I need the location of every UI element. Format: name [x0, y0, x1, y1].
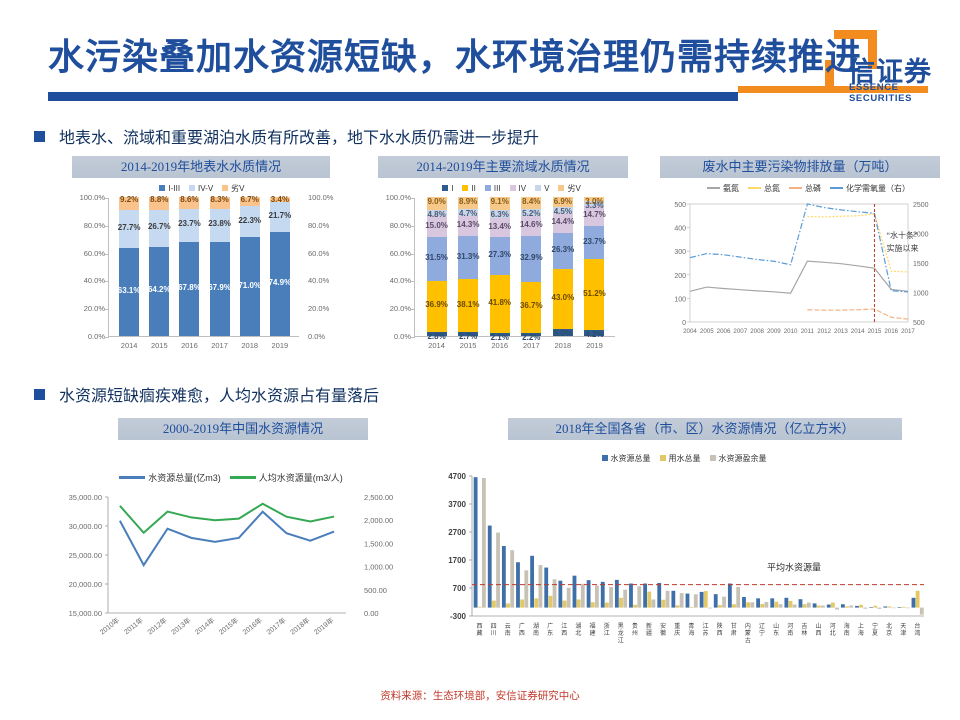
- svg-text:南: 南: [787, 629, 793, 637]
- bar-value-label: 74.9%: [269, 278, 292, 287]
- bar-segment: 14.6%: [521, 216, 541, 236]
- bar-segment: 8.3%: [210, 197, 230, 209]
- svg-text:广: 广: [519, 622, 525, 630]
- chart-basin-water-quality: IIIIIIIVV劣V 0.0%20.0%40.0%60.0%80.0%100.…: [372, 182, 640, 352]
- bar-value-label: 13.4%: [488, 222, 511, 231]
- svg-text:2018年: 2018年: [288, 615, 311, 636]
- bar-segment: 41.8%: [490, 275, 510, 333]
- legend-label: III: [494, 184, 501, 193]
- bar-value-label: 8.9%: [459, 197, 477, 206]
- axis-tick: [411, 198, 415, 199]
- svg-text:2,500.00: 2,500.00: [364, 493, 393, 502]
- svg-text:4700: 4700: [448, 472, 466, 481]
- svg-text:20,000.00: 20,000.00: [69, 580, 102, 589]
- x-axis-tick-label: 2017: [204, 341, 236, 350]
- svg-text:2013: 2013: [834, 328, 848, 335]
- bar-segment: 21.7%: [270, 202, 290, 232]
- bar-segment: 2.2%: [521, 333, 541, 336]
- svg-text:吉: 吉: [801, 623, 807, 630]
- chart3-svg: 0100200300400500500100015002000250020042…: [664, 196, 948, 354]
- bar-value-label: 71.0%: [238, 281, 261, 290]
- legend-item: 化学需氧量（右）: [830, 183, 910, 194]
- svg-text:庆: 庆: [674, 629, 680, 637]
- svg-text:北: 北: [886, 622, 892, 630]
- svg-text:陕: 陕: [717, 622, 723, 630]
- svg-text:1500: 1500: [913, 261, 929, 268]
- svg-text:2010年: 2010年: [98, 615, 121, 636]
- legend-label: 水资源盈余量: [719, 453, 767, 464]
- stacked-bar: 71.0%22.3%6.7%: [240, 197, 260, 336]
- svg-text:2009: 2009: [767, 328, 781, 335]
- legend-label: I-III: [168, 184, 180, 193]
- svg-text:川: 川: [491, 630, 497, 637]
- bar-value-label: 36.9%: [425, 300, 448, 309]
- svg-text:1,500.00: 1,500.00: [364, 539, 393, 548]
- svg-text:青: 青: [688, 622, 694, 630]
- legend-swatch-icon: [189, 185, 195, 191]
- svg-text:2017: 2017: [901, 328, 915, 335]
- svg-text:河: 河: [830, 622, 836, 630]
- bar-value-label: 14.3%: [457, 220, 480, 229]
- header-rule-blue: [48, 92, 738, 101]
- legend-label: 氨氮: [723, 183, 739, 194]
- svg-text:州: 州: [632, 630, 638, 637]
- axis-tick: [105, 309, 109, 310]
- bar-value-label: 27.3%: [488, 250, 511, 259]
- bar-segment: 4.7%: [458, 209, 478, 216]
- axis-tick: [411, 309, 415, 310]
- svg-text:甘: 甘: [731, 622, 737, 630]
- stacked-bar: 64.2%26.7%8.8%: [149, 197, 169, 336]
- legend-label: V: [544, 184, 549, 193]
- chart-pollutant-discharge: 氨氮总氮总磷化学需氧量（右） 0100200300400500500100015…: [664, 182, 948, 357]
- bar-segment: 64.2%: [149, 247, 169, 336]
- svg-text:西: 西: [816, 630, 822, 637]
- x-axis-tick-label: 2015: [143, 341, 175, 350]
- bar-segment: 8.6%: [179, 197, 199, 209]
- bar-segment: 9.0%: [427, 197, 447, 210]
- svg-text:疆: 疆: [646, 630, 652, 637]
- bullet-point-1: 地表水、流域和重要湖泊水质有所改善，地下水水质仍需进一步提升: [34, 124, 539, 148]
- bar-segment: 8.8%: [149, 197, 169, 209]
- legend-item: 氨氮: [707, 183, 739, 194]
- svg-text:2016年: 2016年: [241, 615, 264, 636]
- svg-text:0.00: 0.00: [364, 609, 379, 618]
- legend-item: IV: [510, 184, 527, 193]
- svg-text:山: 山: [773, 622, 779, 630]
- legend-swatch-icon: [748, 187, 761, 189]
- y2-axis-tick-label: 40.0%: [308, 276, 348, 285]
- bar-segment: 32.9%: [521, 236, 541, 282]
- bar-value-label: 2.7%: [459, 332, 477, 341]
- legend-swatch-icon: [442, 185, 448, 191]
- svg-text:西: 西: [717, 630, 723, 637]
- y-axis-tick-label: 60.0%: [373, 249, 411, 258]
- bar-value-label: 31.5%: [425, 253, 448, 262]
- svg-text:宁: 宁: [872, 622, 878, 630]
- bar-segment: 15.0%: [427, 216, 447, 237]
- bar-value-label: 51.2%: [583, 289, 606, 298]
- svg-text:500: 500: [674, 202, 686, 209]
- svg-text:河: 河: [787, 622, 793, 630]
- svg-text:-300: -300: [450, 612, 467, 621]
- svg-text:西: 西: [561, 630, 567, 637]
- bar-value-label: 4.8%: [427, 210, 445, 219]
- legend-item: 劣V: [222, 183, 244, 194]
- svg-text:南: 南: [505, 629, 511, 637]
- svg-text:1000: 1000: [913, 291, 929, 298]
- svg-text:西: 西: [477, 623, 483, 630]
- svg-text:2017年: 2017年: [264, 615, 287, 636]
- legend-swatch-icon: [159, 185, 165, 191]
- bar-value-label: 4.7%: [459, 209, 477, 218]
- legend-item: 总磷: [789, 183, 821, 194]
- svg-text:江: 江: [618, 637, 624, 644]
- bar-segment: 31.5%: [427, 237, 447, 281]
- svg-text:古: 古: [745, 636, 751, 644]
- legend-item: 用水总量: [660, 453, 701, 464]
- legend-item: 水资源盈余量: [710, 453, 767, 464]
- bar-segment: 4.8%: [427, 210, 447, 217]
- legend-item: I-III: [159, 184, 180, 193]
- bullet-square-icon: [34, 131, 45, 142]
- legend-item: III: [485, 184, 501, 193]
- svg-text:肃: 肃: [731, 629, 737, 637]
- bar-value-label: 3.0%: [585, 197, 603, 206]
- bar-segment: 8.4%: [521, 197, 541, 209]
- bar-segment: 23.8%: [210, 209, 230, 242]
- svg-text:东: 东: [547, 629, 553, 637]
- legend-swatch-icon: [462, 185, 468, 191]
- y-axis-tick-label: 100.0%: [67, 193, 105, 202]
- bar-segment: 9.1%: [490, 197, 510, 210]
- svg-text:海: 海: [844, 622, 850, 630]
- svg-text:江: 江: [604, 630, 610, 637]
- bar-value-label: 23.7%: [178, 219, 201, 228]
- bar-segment: 2.7%: [458, 332, 478, 336]
- chart-title-china-water-resources: 2000-2019年中国水资源情况: [118, 418, 368, 440]
- svg-text:300: 300: [674, 249, 686, 256]
- y-axis-tick-label: 80.0%: [67, 221, 105, 230]
- legend-item: 劣V: [558, 183, 580, 194]
- x-axis-tick-label: 2016: [484, 341, 516, 350]
- y2-axis-tick-label: 0.0%: [308, 332, 348, 341]
- bar-segment: 6.3%: [490, 210, 510, 219]
- svg-text:浙: 浙: [604, 622, 610, 630]
- bar-value-label: 6.9%: [554, 197, 572, 206]
- svg-text:700: 700: [453, 584, 467, 593]
- bar-value-label: 27.7%: [118, 223, 141, 232]
- legend-label: 劣V: [567, 183, 580, 194]
- bullet-text: 地表水、流域和重要湖泊水质有所改善，地下水水质仍需进一步提升: [59, 124, 539, 148]
- chart2-plot-area: 0.0%20.0%40.0%60.0%80.0%100.0%2.8%36.9%3…: [414, 198, 615, 337]
- bar-segment: 26.7%: [149, 210, 169, 247]
- svg-text:2,000.00: 2,000.00: [364, 516, 393, 525]
- legend-item: I: [442, 184, 453, 193]
- svg-text:建: 建: [590, 629, 596, 637]
- bar-value-label: 9.0%: [427, 197, 445, 206]
- legend-label: IV-V: [198, 184, 213, 193]
- bullet-text: 水资源短缺痼疾难愈，人均水资源占有量落后: [59, 382, 379, 406]
- bar-value-label: 6.7%: [241, 195, 259, 204]
- bar-segment: 67.8%: [179, 242, 199, 336]
- legend-label: 总磷: [805, 183, 821, 194]
- legend-item: 水资源总量(亿m3): [119, 471, 221, 484]
- legend-swatch-icon: [558, 185, 564, 191]
- bar-segment: 31.3%: [458, 236, 478, 280]
- x-axis-tick-label: 2019: [264, 341, 296, 350]
- svg-text:35,000.00: 35,000.00: [69, 493, 102, 502]
- svg-text:龙: 龙: [618, 629, 624, 637]
- axis-tick: [411, 254, 415, 255]
- legend-swatch-icon: [119, 476, 145, 479]
- stacked-bar: 5.0%43.0%26.3%14.4%4.5%6.9%: [553, 197, 573, 336]
- svg-text:湾: 湾: [914, 629, 920, 637]
- svg-text:东: 东: [773, 629, 779, 637]
- svg-text:内: 内: [745, 622, 751, 630]
- axis-tick: [411, 226, 415, 227]
- legend-label: 人均水资源量(m3/人): [259, 471, 343, 484]
- legend-item: V: [535, 184, 549, 193]
- legend-swatch-icon: [485, 185, 491, 191]
- bar-value-label: 4.5%: [554, 207, 572, 216]
- chart4-legend: 水资源总量(亿m3)人均水资源量(m3/人): [96, 470, 366, 484]
- legend-swatch-icon: [660, 455, 666, 461]
- y2-axis-tick-label: 60.0%: [308, 249, 348, 258]
- bar-segment: 63.1%: [119, 248, 139, 336]
- chart-title-pollutant-discharge: 废水中主要污染物排放量（万吨）: [660, 156, 940, 178]
- svg-text:0: 0: [682, 320, 686, 327]
- svg-text:江: 江: [703, 623, 709, 630]
- legend-swatch-icon: [222, 185, 228, 191]
- svg-text:徽: 徽: [660, 629, 666, 637]
- chart5-svg: -3007001700270037004700西藏四川云南广西湖南广东江西湖北福…: [424, 466, 944, 661]
- bar-value-label: 8.4%: [522, 197, 540, 206]
- svg-text:蒙: 蒙: [745, 629, 751, 637]
- bar-segment: 3.0%: [584, 197, 604, 201]
- legend-swatch-icon: [830, 187, 843, 189]
- legend-swatch-icon: [510, 185, 516, 191]
- y2-axis-tick-label: 80.0%: [308, 221, 348, 230]
- stacked-bar: 67.8%23.7%8.6%: [179, 197, 199, 336]
- axis-tick: [411, 281, 415, 282]
- y-axis-tick-label: 40.0%: [67, 276, 105, 285]
- legend-swatch-icon: [535, 185, 541, 191]
- bar-segment: 27.7%: [119, 210, 139, 249]
- svg-text:南: 南: [844, 629, 850, 637]
- svg-text:林: 林: [801, 629, 807, 637]
- svg-text:15,000.00: 15,000.00: [69, 609, 102, 618]
- svg-text:山: 山: [816, 622, 822, 630]
- bar-value-label: 14.7%: [583, 210, 606, 219]
- svg-text:2015: 2015: [868, 328, 882, 335]
- bar-segment: 23.7%: [584, 226, 604, 259]
- svg-text:2004: 2004: [683, 328, 697, 335]
- bar-segment: 26.3%: [553, 233, 573, 270]
- bar-segment: 6.9%: [553, 197, 573, 207]
- chart1-legend: I-IIIIV-V劣V: [102, 182, 302, 194]
- svg-text:2010: 2010: [784, 328, 798, 335]
- svg-text:苏: 苏: [703, 629, 709, 637]
- svg-text:2013年: 2013年: [169, 615, 192, 636]
- legend-label: 用水总量: [669, 453, 701, 464]
- bar-value-label: 8.8%: [150, 195, 168, 204]
- stacked-bar: 67.9%23.8%8.3%: [210, 197, 230, 336]
- bar-segment: 22.3%: [240, 206, 260, 237]
- svg-text:福: 福: [590, 622, 596, 630]
- svg-text:500.00: 500.00: [364, 586, 387, 595]
- svg-text:2011年: 2011年: [122, 615, 145, 636]
- chart5-legend: 水资源总量用水总量水资源盈余量: [554, 452, 814, 464]
- svg-text:江: 江: [561, 623, 567, 630]
- x-axis-tick-label: 2017: [515, 341, 547, 350]
- bar-value-label: 64.2%: [148, 285, 171, 294]
- bar-segment: 38.1%: [458, 279, 478, 332]
- bar-value-label: 3.4%: [271, 195, 289, 204]
- bar-value-label: 9.1%: [491, 197, 509, 206]
- bullet-square-icon: [34, 389, 45, 400]
- chart-title-basin-water: 2014-2019年主要流域水质情况: [378, 156, 628, 178]
- svg-text:200: 200: [674, 273, 686, 280]
- page-title: 水污染叠加水资源短缺，水环境治理仍需持续推进: [48, 28, 862, 80]
- chart1-plot-area: 0.0%20.0%40.0%60.0%80.0%100.0%0.0%20.0%4…: [108, 198, 299, 337]
- svg-text:2012: 2012: [817, 328, 831, 335]
- svg-text:100: 100: [674, 296, 686, 303]
- bar-segment: 8.9%: [458, 197, 478, 209]
- bar-segment: 4.5%: [553, 207, 573, 213]
- stacked-bar: 2.2%36.7%32.9%14.6%5.2%8.4%: [521, 197, 541, 336]
- y2-axis-tick-label: 20.0%: [308, 304, 348, 313]
- svg-text:海: 海: [688, 629, 694, 637]
- svg-text:西: 西: [519, 630, 525, 637]
- stacked-bar: 2.7%38.1%31.3%14.3%4.7%8.9%: [458, 197, 478, 336]
- bar-segment: 14.3%: [458, 216, 478, 236]
- svg-text:2011: 2011: [801, 328, 815, 335]
- svg-text:2007: 2007: [733, 328, 747, 335]
- x-axis-tick-label: 2014: [113, 341, 145, 350]
- legend-label: II: [471, 184, 475, 193]
- bar-segment: 5.0%: [553, 329, 573, 336]
- svg-text:新: 新: [646, 622, 652, 630]
- legend-item: IV-V: [189, 184, 213, 193]
- svg-text:广: 广: [547, 622, 553, 630]
- x-axis-tick-label: 2018: [234, 341, 266, 350]
- legend-label: IV: [519, 184, 527, 193]
- stacked-bar: 2.1%41.8%27.3%13.4%6.3%9.1%: [490, 197, 510, 336]
- bar-segment: 67.9%: [210, 242, 230, 336]
- chart4-svg: 15,000.0020,000.0025,000.0030,000.0035,0…: [36, 487, 426, 655]
- svg-text:平均水资源量: 平均水资源量: [767, 562, 821, 573]
- svg-text:500: 500: [913, 320, 925, 327]
- bar-segment: 3.4%: [270, 197, 290, 202]
- svg-text:京: 京: [886, 629, 892, 637]
- svg-text:黑: 黑: [618, 623, 624, 630]
- svg-text:贵: 贵: [632, 622, 638, 630]
- y-axis-tick-label: 20.0%: [67, 304, 105, 313]
- svg-text:2500: 2500: [913, 202, 929, 209]
- y-axis-tick-label: 20.0%: [373, 304, 411, 313]
- svg-text:安: 安: [660, 622, 666, 630]
- svg-text:天: 天: [900, 623, 906, 630]
- svg-text:2006: 2006: [717, 328, 731, 335]
- chart3-legend: 氨氮总氮总磷化学需氧量（右）: [686, 182, 931, 194]
- svg-text:2012年: 2012年: [145, 615, 168, 636]
- legend-label: I: [451, 184, 453, 193]
- svg-text:重: 重: [674, 622, 680, 630]
- bar-value-label: 5.0%: [554, 329, 572, 338]
- chart-title-surface-water: 2014-2019年地表水水质情况: [72, 156, 330, 178]
- svg-text:辽: 辽: [759, 622, 765, 630]
- svg-text:上: 上: [858, 622, 864, 630]
- chart-title-province-water-resources: 2018年全国各省（市、区）水资源情况（亿立方米）: [508, 418, 902, 440]
- x-axis-tick-label: 2016: [173, 341, 205, 350]
- svg-text:北: 北: [830, 629, 836, 637]
- y-axis-tick-label: 0.0%: [67, 332, 105, 341]
- legend-swatch-icon: [789, 187, 802, 189]
- svg-text:“水十条”: “水十条”: [886, 230, 918, 240]
- legend-swatch-icon: [602, 455, 608, 461]
- y-axis-tick-label: 100.0%: [373, 193, 411, 202]
- bar-value-label: 38.1%: [457, 300, 480, 309]
- legend-swatch-icon: [707, 187, 720, 189]
- bar-value-label: 67.9%: [208, 283, 231, 292]
- bar-value-label: 9.2%: [120, 195, 138, 204]
- axis-tick: [105, 254, 109, 255]
- bar-segment: 9.2%: [119, 197, 139, 210]
- svg-text:四: 四: [491, 623, 497, 630]
- bar-value-label: 14.4%: [552, 217, 575, 226]
- slide: 水污染叠加水资源短缺，水环境治理仍需持续推进 信证券 ESSENCE SECUR…: [0, 0, 960, 720]
- bar-segment: 71.0%: [240, 237, 260, 336]
- bar-value-label: 26.7%: [148, 222, 171, 231]
- source-footer: 资料来源：生态环境部，安信证券研究中心: [0, 688, 960, 703]
- legend-label: 劣V: [231, 183, 244, 194]
- bar-segment: 74.9%: [270, 232, 290, 336]
- svg-text:海: 海: [858, 629, 864, 637]
- bar-segment: 23.7%: [179, 209, 199, 242]
- legend-swatch-icon: [230, 476, 256, 479]
- svg-text:津: 津: [900, 630, 906, 637]
- svg-text:云: 云: [505, 623, 511, 630]
- legend-label: 水资源总量: [611, 453, 651, 464]
- bar-segment: 51.2%: [584, 259, 604, 330]
- svg-text:30,000.00: 30,000.00: [69, 522, 102, 531]
- svg-text:夏: 夏: [872, 630, 878, 637]
- svg-text:2005: 2005: [700, 328, 714, 335]
- bar-value-label: 14.6%: [520, 220, 543, 229]
- svg-text:2700: 2700: [448, 528, 466, 537]
- logo-english-name: ESSENCE SECURITIES: [849, 82, 946, 104]
- svg-text:3700: 3700: [448, 500, 466, 509]
- legend-label: 总氮: [764, 183, 780, 194]
- chart-surface-water-quality: I-IIIIV-V劣V 0.0%20.0%40.0%60.0%80.0%100.…: [62, 182, 340, 352]
- bar-value-label: 32.9%: [520, 253, 543, 262]
- bar-segment: 5.2%: [521, 209, 541, 216]
- bar-segment: 27.3%: [490, 237, 510, 275]
- svg-text:25,000.00: 25,000.00: [69, 551, 102, 560]
- bar-segment: 6.7%: [240, 197, 260, 206]
- axis-tick: [105, 281, 109, 282]
- stacked-bar: 74.9%21.7%3.4%: [270, 197, 290, 336]
- svg-text:台: 台: [914, 622, 920, 630]
- svg-text:1700: 1700: [448, 556, 466, 565]
- bar-value-label: 36.7%: [520, 301, 543, 310]
- bar-value-label: 23.8%: [208, 219, 231, 228]
- svg-text:湖: 湖: [533, 622, 539, 630]
- x-axis-tick-label: 2014: [421, 341, 453, 350]
- bar-segment: 43.0%: [553, 269, 573, 329]
- bar-segment: 4.2%: [584, 330, 604, 336]
